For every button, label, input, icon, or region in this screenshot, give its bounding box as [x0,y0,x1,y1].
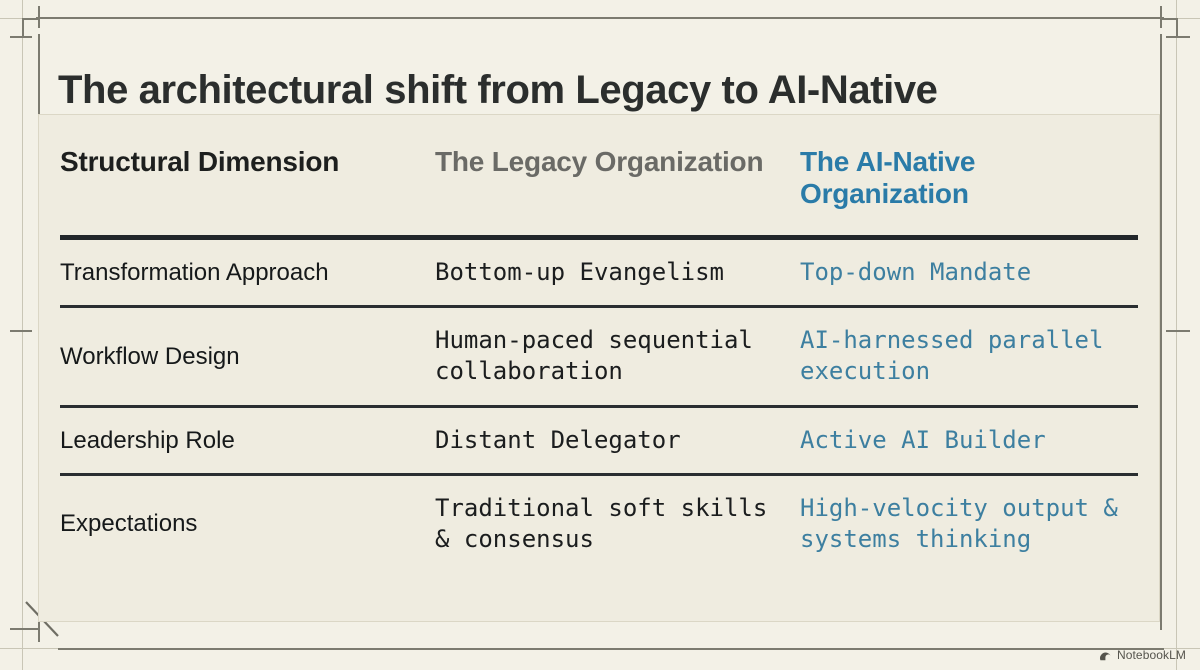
crop-mark-left-tick-mid [10,330,32,332]
panel-top-rule [38,114,1160,115]
column-header-legacy: The Legacy Organization [435,124,800,237]
crop-mark-right-tick-mid [1166,330,1190,332]
guide-line-right [1176,0,1177,670]
cell-legacy: Traditional soft skills & consensus [435,474,800,572]
crop-mark-bottom-left-corner-h [22,628,40,630]
cell-dimension: Leadership Role [60,406,435,474]
table-row: Expectations Traditional soft skills & c… [60,474,1138,572]
crop-mark-top-left-corner-h [22,18,40,20]
cell-legacy: Distant Delegator [435,406,800,474]
page-title: The architectural shift from Legacy to A… [58,67,1138,114]
table-row: Workflow Design Human-paced sequential c… [60,307,1138,406]
comparison-table-panel: Structural Dimension The Legacy Organiza… [38,114,1160,622]
column-header-ai-native: The AI-Native Organization [800,124,1138,237]
cell-dimension: Workflow Design [60,307,435,406]
slide-canvas: The architectural shift from Legacy to A… [0,0,1200,670]
crop-mark-top-right-tick [1160,6,1162,28]
watermark-label: NotebookLM [1117,648,1186,662]
cell-ai-native: High-velocity output & systems thinking [800,474,1138,572]
crop-mark-right-tick-upper [1166,36,1190,38]
crop-mark-right-v [1160,34,1162,630]
panel-right-edge [1159,114,1160,622]
cell-legacy: Human-paced sequential collaboration [435,307,800,406]
table-body: Transformation Approach Bottom-up Evange… [60,237,1138,572]
cell-ai-native: Top-down Mandate [800,237,1138,306]
panel-bottom-rule [38,621,1160,622]
crop-mark-top-left-tick [38,6,40,28]
crop-mark-left-tick-upper [10,36,32,38]
table-header-row: Structural Dimension The Legacy Organiza… [60,124,1138,237]
table-row: Transformation Approach Bottom-up Evange… [60,237,1138,306]
cell-dimension: Expectations [60,474,435,572]
cell-legacy: Bottom-up Evangelism [435,237,800,306]
cell-ai-native: AI-harnessed parallel execution [800,307,1138,406]
panel-left-edge [38,114,39,622]
guide-line-left [22,0,23,670]
crop-mark-top-right-corner-v [1176,18,1178,36]
column-header-dimension: Structural Dimension [60,124,435,237]
notebooklm-watermark: NotebookLM [1099,648,1186,662]
table-header: Structural Dimension The Legacy Organiza… [60,124,1138,237]
cell-ai-native: Active AI Builder [800,406,1138,474]
table-row: Leadership Role Distant Delegator Active… [60,406,1138,474]
cell-dimension: Transformation Approach [60,237,435,306]
crop-mark-top-left-h [36,17,1164,19]
comparison-table: Structural Dimension The Legacy Organiza… [60,124,1138,572]
crop-mark-bottom-h [58,648,1164,650]
crop-mark-top-left-corner-v [22,18,24,36]
notebooklm-logo-icon [1099,649,1112,662]
